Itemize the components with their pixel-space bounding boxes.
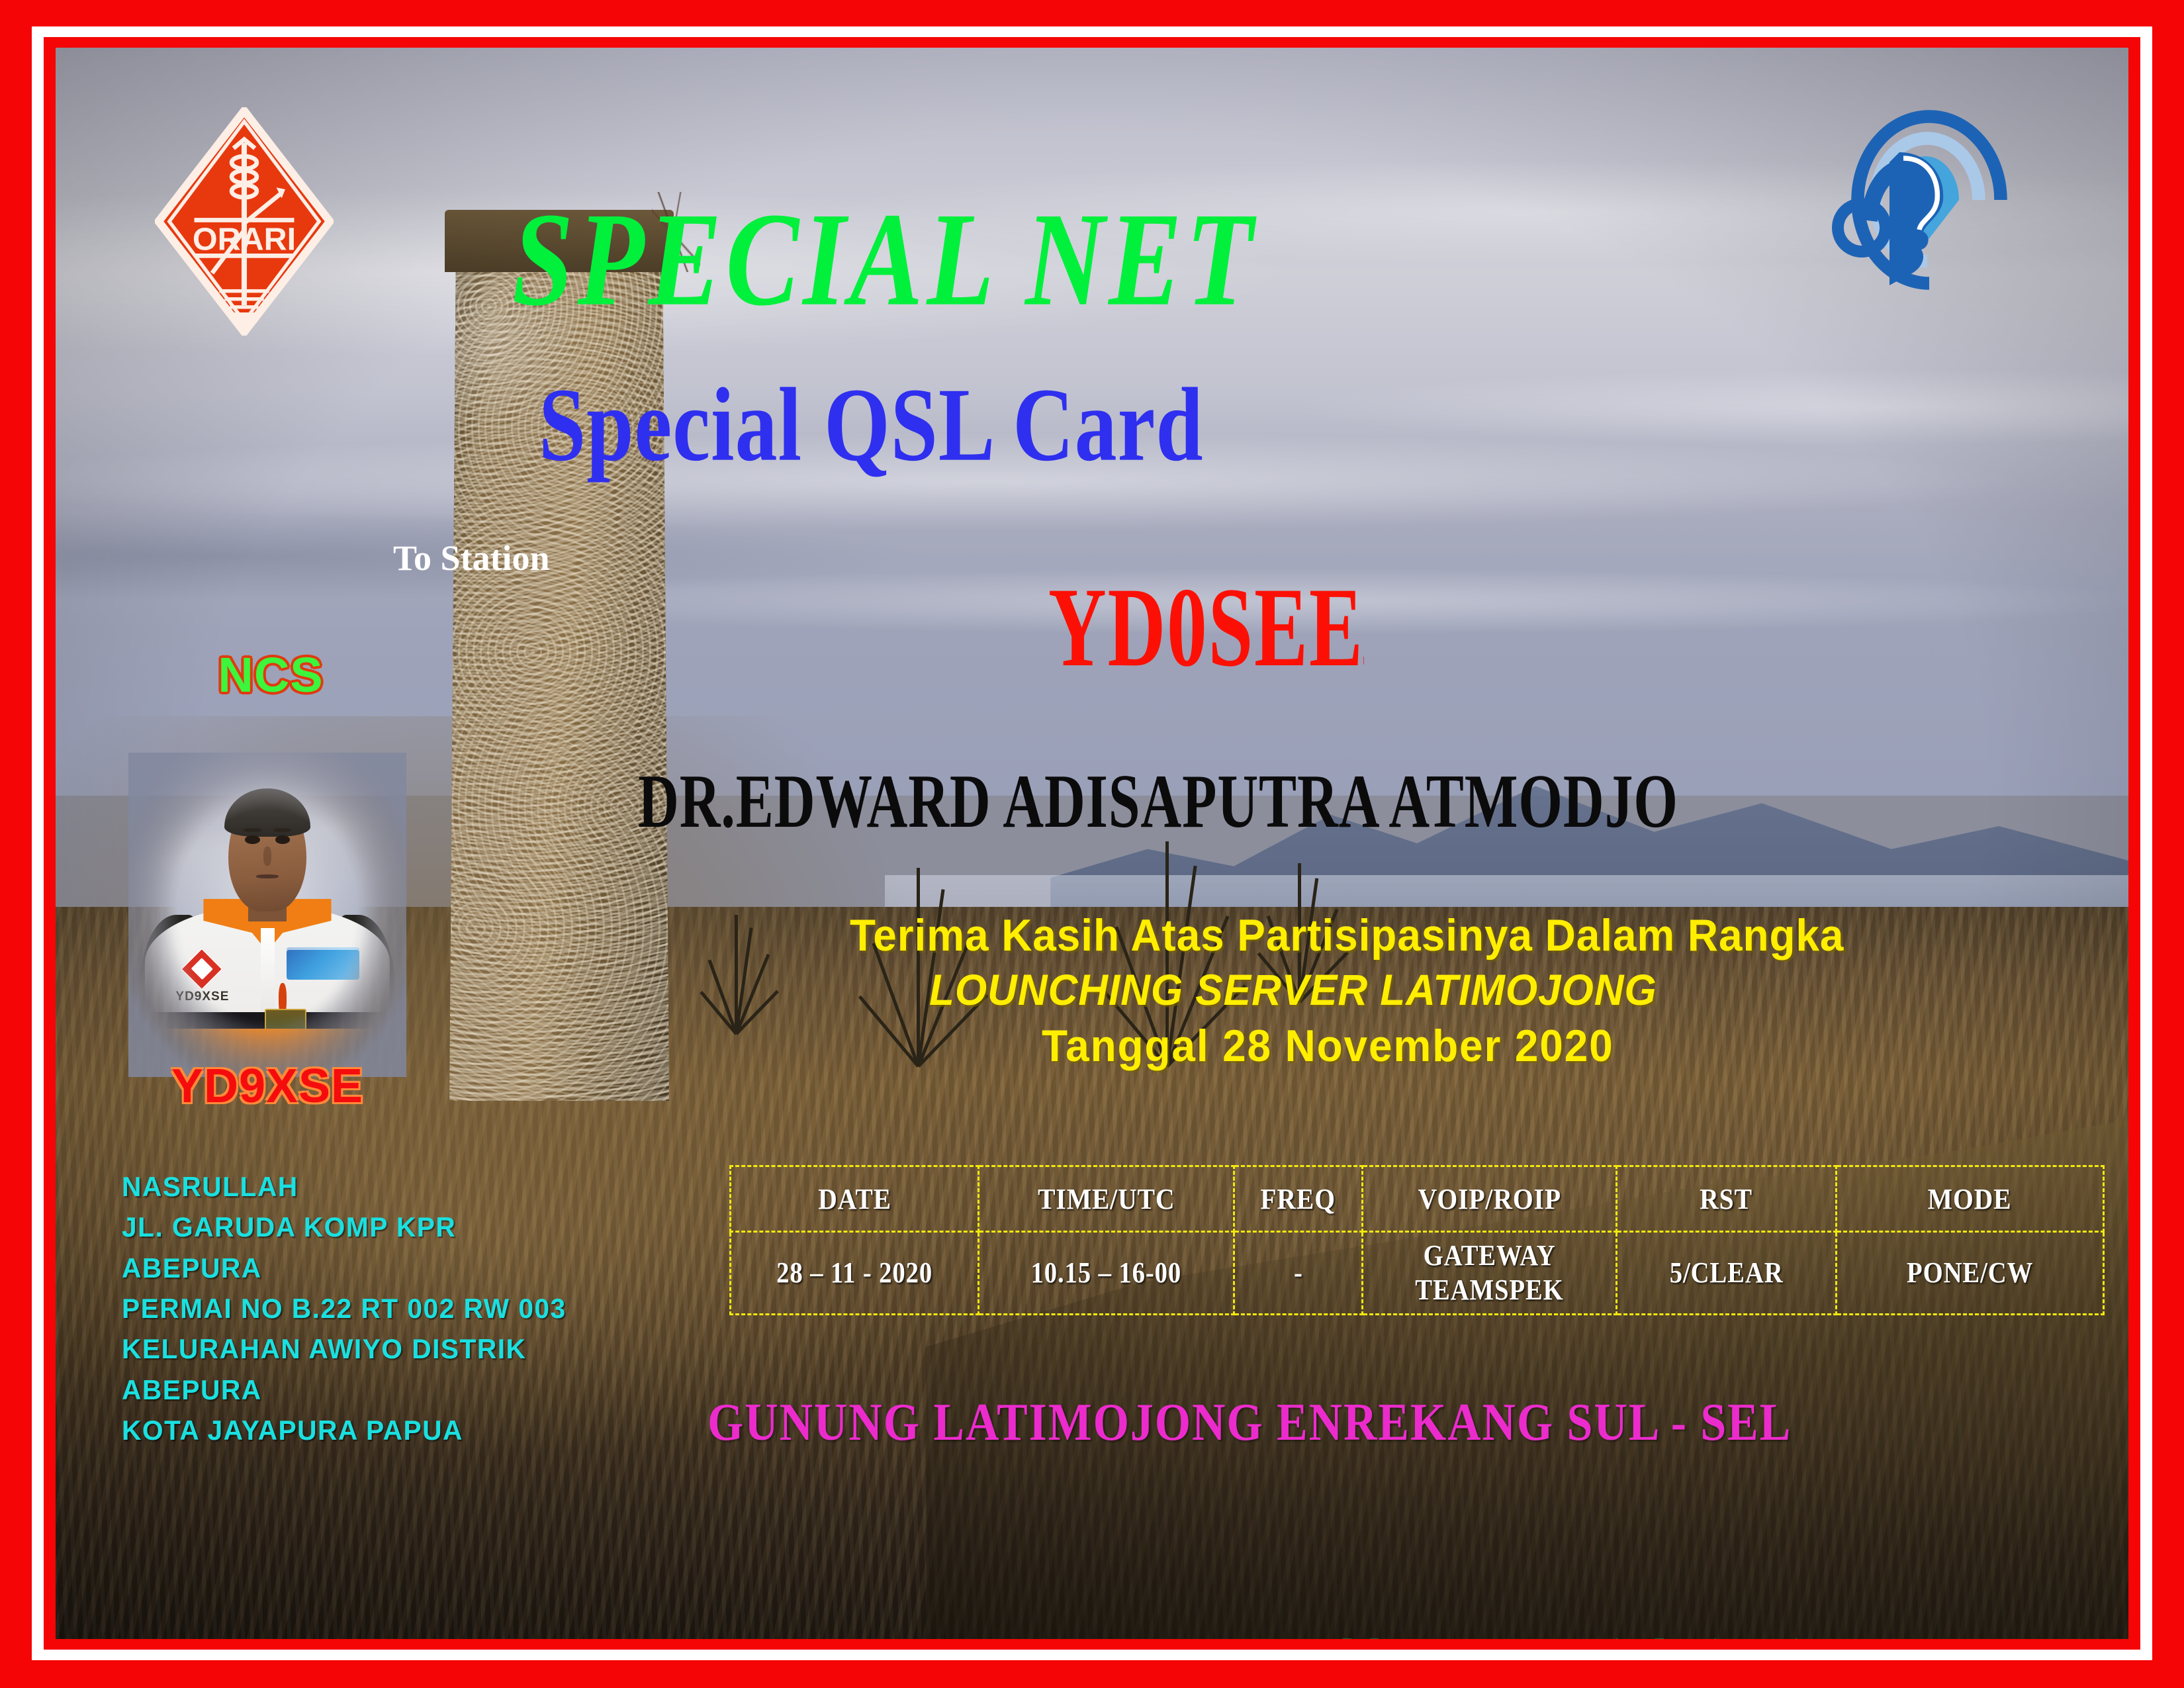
ncs-label: NCS [178,647,363,703]
station-callsign: YD0SEE [1048,571,1364,684]
orari-logo-text: ORARI [193,222,296,258]
callsign-prefix: YD0S [1048,564,1254,690]
operator-name: DR.EDWARD ADISAPUTRA ATMODJO [638,763,1678,839]
location-line: GUNUNG LATIMOJONG ENREKANG SUL - SEL [707,1391,1792,1453]
footer-web-address: Address : amatir.latimojong.com [1293,1627,1978,1639]
column-header-freq: FREQ [1240,1166,1356,1232]
radio-headset-logo [1824,101,2042,299]
table-header-row: DATE TIME/UTC FREQ VOIP/ROIP RST MODE [731,1166,2104,1232]
address-line: KOTA JAYAPURA PAPUA [122,1410,567,1450]
column-header-voip: VOIP/ROIP [1375,1166,1604,1232]
portrait-person: YD9XSE [128,753,406,1077]
cell-date: 28 – 11 - 2020 [731,1232,979,1315]
portrait-mouth [256,874,279,878]
address-line: ABEPURA [122,1248,567,1288]
ncs-portrait-photo: YD9XSE [128,753,406,1077]
cell-voip-line-2: TEAMSPEK [1415,1273,1563,1307]
table-row: 28 – 11 - 2020 10.15 – 16-00 - GATEWAY T… [731,1232,2104,1315]
cell-voip: GATEWAY TEAMSPEK [1363,1232,1617,1315]
address-line: PERMAI NO B.22 RT 002 RW 003 [122,1288,567,1329]
cell-mode: PONE/CW [1836,1232,2103,1315]
orari-logo: ORARI [155,107,334,336]
cell-rst: 5/CLEAR [1616,1232,1836,1315]
card-background-photo: ORARI SPECIAL NET Special QSL Card To St… [56,48,2128,1639]
ncs-callsign: YD9XSE [128,1059,406,1113]
address-line: NASRULLAH [122,1166,567,1207]
portrait-hair [224,788,310,837]
qsl-card: ORARI SPECIAL NET Special QSL Card To St… [0,0,2184,1688]
column-header-date: DATE [743,1166,966,1232]
thanks-line-1: Terima Kasih Atas Partisipasinya Dalam R… [850,908,2063,963]
portrait-eyebrow-left [244,828,261,832]
uniform-callsign-patch: YD9XSE [175,990,253,1004]
footer-motto: "AMATIR RADIO ADALAH PROGRESIVE" [132,1630,1059,1639]
portrait-mask: YD9XSE [128,753,406,1077]
cell-voip-line-1: GATEWAY [1424,1239,1556,1273]
thanks-line-3: Tanggal 28 November 2020 [1042,1017,2074,1075]
uniform-org-logo-icon [287,947,359,980]
callsign-suffix: EE [1254,564,1364,690]
thanks-line-2: LOUNCHING SERVER LATIMOJONG [929,963,2068,1017]
address-line: KELURAHAN AWIYO DISTRIK [122,1329,567,1369]
page-title: SPECIAL NET [512,192,1257,326]
qso-log-table: DATE TIME/UTC FREQ VOIP/ROIP RST MODE 28… [729,1165,2105,1315]
cell-time: 10.15 – 16-00 [979,1232,1234,1315]
column-header-time: TIME/UTC [991,1166,1221,1232]
column-header-mode: MODE [1850,1166,2091,1232]
address-line: ABEPURA [122,1370,567,1410]
sender-address-block: NASRULLAH JL. GARUDA KOMP KPR ABEPURA PE… [122,1166,580,1450]
address-line: JL. GARUDA KOMP KPR [122,1207,567,1247]
page-subtitle: Special QSL Card [539,372,1204,477]
thanks-block: Terima Kasih Atas Partisipasinya Dalam R… [850,908,2128,1075]
cell-freq: - [1234,1232,1362,1315]
portrait-eye-left [245,835,259,844]
portrait-eyebrow-right [273,828,291,832]
to-station-label: To Station [393,538,550,579]
portrait-eye-right [275,835,290,844]
portrait-nose [263,847,271,866]
column-header-rst: RST [1627,1166,1825,1232]
